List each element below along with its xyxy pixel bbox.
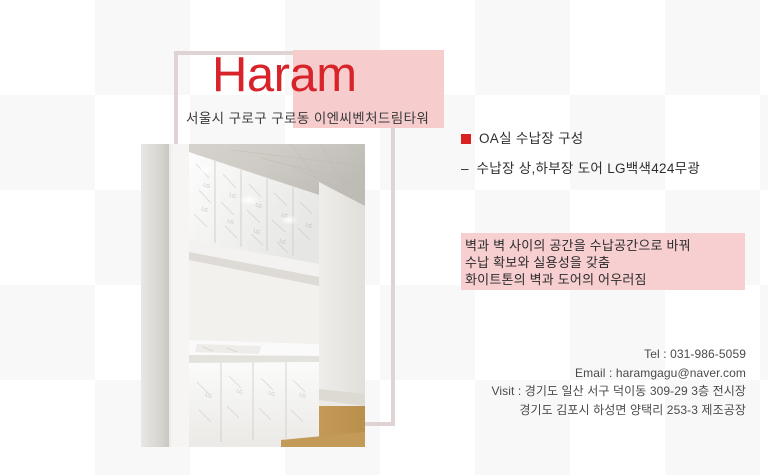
contact-tel: Tel : 031-986-5059 [491,345,746,364]
spec-heading-row: OA실 수납장 구성 [461,130,761,147]
spec-item-text: 수납장 상,하부장 도어 LG백색424무광 [477,160,701,177]
brand-address: 서울시 구로구 구로동 이엔씨벤처드림타워 [186,110,429,128]
spec-list: OA실 수납장 구성 – 수납장 상,하부장 도어 LG백색424무광 [461,130,761,177]
frame-line-left [174,51,178,153]
spec-item-row: – 수납장 상,하부장 도어 LG백색424무광 [461,160,761,177]
brand-title: Haram [212,48,357,102]
contact-block: Tel : 031-986-5059 Email : haramgagu@nav… [491,345,746,419]
interior-photo: LG LG LG LG LG LG LG LG LG [141,144,365,447]
contact-visit-factory: 경기도 김포시 하성면 양택리 253-3 제조공장 [491,401,746,420]
description-line-3: 화이트톤의 벽과 도어의 어우러짐 [465,271,745,288]
slide-canvas: Haram 서울시 구로구 구로동 이엔씨벤처드림타워 [0,0,768,475]
description-line-2: 수납 확보와 실용성을 갖춤 [465,254,745,271]
dash-icon: – [461,161,469,176]
description-line-1: 벽과 벽 사이의 공간을 수납공간으로 바꿔 [465,237,745,254]
red-square-bullet-icon [461,134,471,144]
interior-photo-image: LG LG LG LG LG LG LG LG LG [141,144,365,447]
description-highlight: 벽과 벽 사이의 공간을 수납공간으로 바꿔 수납 확보와 실용성을 갖춤 화이… [461,233,745,290]
spec-heading-text: OA실 수납장 구성 [479,130,584,147]
contact-email: Email : haramgagu@naver.com [491,364,746,383]
contact-visit-showroom: Visit : 경기도 일산 서구 덕이동 309-29 3층 전시장 [491,382,746,401]
